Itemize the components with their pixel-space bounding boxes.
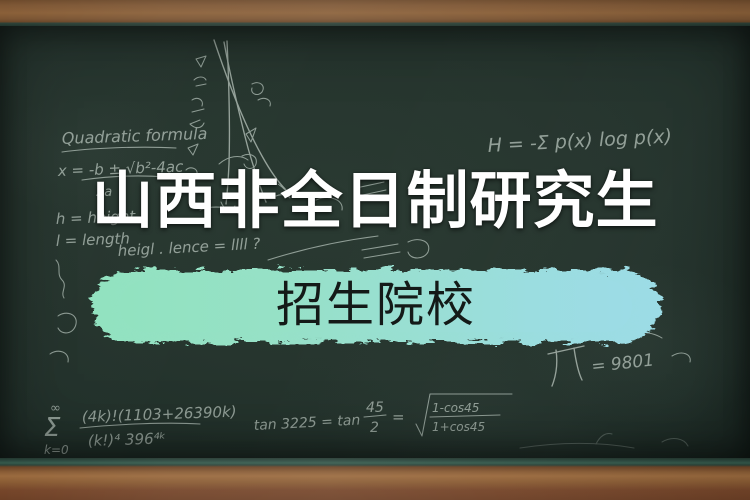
svg-text:(k!)⁴ 396⁴ᵏ: (k!)⁴ 396⁴ᵏ [88, 429, 167, 450]
wood-frame-top-sheen [0, 0, 750, 26]
wood-frame-bottom [0, 458, 750, 500]
badge-brush-shape: 招生院校 [86, 258, 666, 354]
faint-smudges [520, 433, 688, 448]
svg-text:∞: ∞ [50, 401, 61, 416]
svg-text:(4k)!(1103+26390k): (4k)!(1103+26390k) [82, 403, 237, 426]
wood-frame-top [0, 0, 750, 26]
chalkboard-vignette [0, 24, 750, 458]
svg-text:= 9801: = 9801 [590, 351, 655, 377]
chalkboard-texture [0, 24, 750, 458]
badge-subtitle: 招生院校 [86, 258, 666, 354]
svg-text:H = -Σ p(x) log p(x): H = -Σ p(x) log p(x) [487, 125, 672, 157]
svg-text:heigl . lence = llll ?: heigl . lence = llll ? [117, 235, 261, 260]
svg-text:k=0: k=0 [44, 443, 69, 457]
chalk-scribbles-layer: Quadratic formula x = -b ± √b²-4ac 2a H … [0, 24, 750, 458]
chalkboard-surface: Quadratic formula x = -b ± √b²-4ac 2a H … [0, 24, 750, 458]
svg-text:2: 2 [370, 420, 379, 436]
svg-text:1-cos45: 1-cos45 [432, 401, 479, 415]
svg-text:45: 45 [366, 400, 384, 416]
svg-text:tan 3225 = tan: tan 3225 = tan [253, 412, 360, 434]
half-angle-identity-scribble: tan 3225 = tan 45 2 = 1-cos45 1+cos45 [253, 394, 512, 436]
ramanujan-series-scribble: ∞ Σ k=0 (4k)!(1103+26390k) (k!)⁴ 396⁴ᵏ [44, 401, 237, 457]
wood-frame-bottom-sheen [0, 458, 750, 500]
page-title: 山西非全日制研究生 [0, 168, 750, 236]
entropy-formula-scribble: H = -Σ p(x) log p(x) [487, 125, 672, 157]
svg-text:=: = [392, 408, 405, 426]
svg-text:Σ: Σ [44, 413, 61, 443]
poster-canvas: Quadratic formula x = -b ± √b²-4ac 2a H … [0, 0, 750, 500]
svg-text:1+cos45: 1+cos45 [432, 420, 485, 434]
svg-text:Quadratic formula: Quadratic formula [61, 124, 207, 148]
